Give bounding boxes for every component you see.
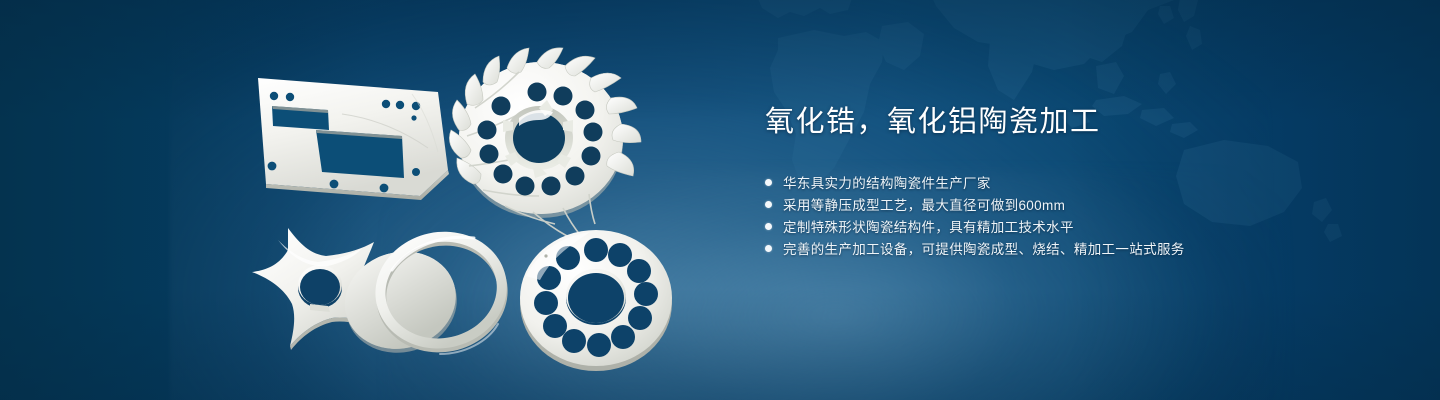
feature-list: 华东具实力的结构陶瓷件生产厂家 采用等静压成型工艺，最大直径可做到600mm 定… — [765, 171, 1385, 259]
banner-copy: 氧化锆，氧化铝陶瓷加工 华东具实力的结构陶瓷件生产厂家 采用等静压成型工艺，最大… — [765, 108, 1385, 259]
feature-text: 采用等静压成型工艺，最大直径可做到600mm — [783, 194, 1065, 214]
ceramic-plate-image — [252, 74, 452, 202]
hero-banner: 氧化锆，氧化铝陶瓷加工 华东具实力的结构陶瓷件生产厂家 采用等静压成型工艺，最大… — [0, 0, 1440, 400]
list-item: 采用等静压成型工艺，最大直径可做到600mm — [765, 193, 1385, 215]
ceramic-impeller-image — [446, 48, 636, 226]
bullet-dot-icon — [765, 201, 772, 208]
list-item: 完善的生产加工设备，可提供陶瓷成型、烧结、精加工一站式服务 — [765, 237, 1385, 259]
product-photo-group — [0, 0, 720, 400]
bullet-dot-icon — [765, 223, 772, 230]
feature-text: 华东具实力的结构陶瓷件生产厂家 — [783, 172, 991, 192]
ceramic-disc-image — [516, 224, 682, 376]
banner-headline: 氧化锆，氧化铝陶瓷加工 — [765, 108, 1385, 137]
feature-text: 定制特殊形状陶瓷结构件，具有精加工技术水平 — [783, 216, 1074, 236]
feature-text: 完善的生产加工设备，可提供陶瓷成型、烧结、精加工一站式服务 — [783, 238, 1185, 258]
list-item: 定制特殊形状陶瓷结构件，具有精加工技术水平 — [765, 215, 1385, 237]
bullet-dot-icon — [765, 179, 772, 186]
bullet-dot-icon — [765, 245, 772, 252]
ceramic-ring-image — [330, 224, 530, 364]
list-item: 华东具实力的结构陶瓷件生产厂家 — [765, 171, 1385, 193]
